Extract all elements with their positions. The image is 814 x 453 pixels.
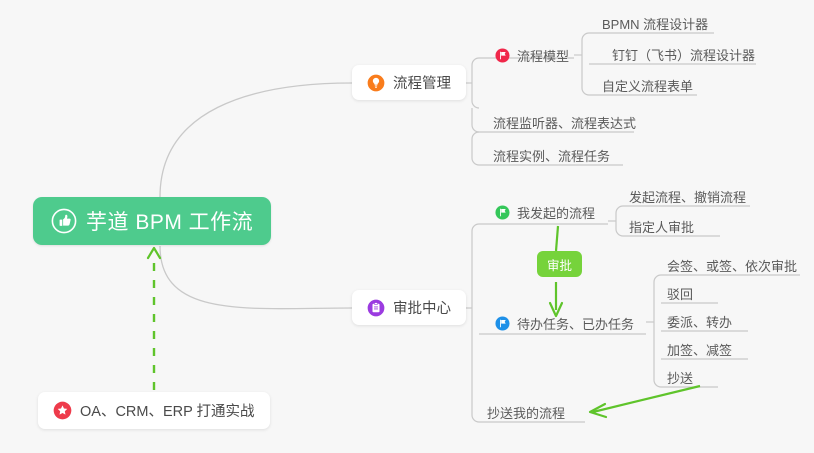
leaf-custom-process-form[interactable]: 自定义流程表单 [598, 72, 697, 98]
link-my-initiated-bracket [616, 206, 623, 236]
node-process-model[interactable]: 流程模型 [491, 42, 573, 68]
flag-icon [495, 48, 510, 63]
flag-icon [495, 316, 510, 331]
link-bracket-instance [472, 132, 479, 165]
label-todo-done-tasks: 待办任务、已办任务 [517, 314, 634, 333]
leaf-delegate-transfer[interactable]: 委派、转办 [663, 308, 736, 334]
annotation-tag-approval[interactable]: 审批 [537, 251, 582, 277]
link-approval-center-bracket [472, 224, 479, 422]
label-process-listener-expression: 流程监听器、流程表达式 [493, 113, 636, 132]
annotation-tag-approval-label: 审批 [547, 255, 572, 274]
leaf-process-instance-task[interactable]: 流程实例、流程任务 [489, 142, 614, 168]
arrow-cc-flow-head [590, 404, 606, 417]
label-my-initiated-process: 我发起的流程 [517, 203, 595, 222]
leaf-process-listener-expression[interactable]: 流程监听器、流程表达式 [489, 109, 640, 135]
branch-node-process-management[interactable]: 流程管理 [352, 65, 466, 100]
leaf-start-cancel-process[interactable]: 发起流程、撤销流程 [625, 183, 750, 209]
root-label: 芋道 BPM 工作流 [86, 206, 253, 236]
label-cc-to-me-process: 抄送我的流程 [487, 403, 565, 422]
leaf-countersign-or-sequential[interactable]: 会签、或签、依次审批 [663, 252, 801, 278]
label-start-cancel-process: 发起流程、撤销流程 [629, 187, 746, 206]
node-my-initiated-process[interactable]: 我发起的流程 [491, 199, 599, 225]
thumbs-up-icon [51, 208, 77, 234]
arrow-approval-flow-upper [556, 226, 558, 251]
mindmap-canvas: 芋道 BPM 工作流 OA、CRM、ERP 打通实战 流程管理 [0, 0, 814, 453]
label-add-remove-sign: 加签、减签 [667, 340, 732, 359]
bottom-note-label: OA、CRM、ERP 打通实战 [80, 400, 255, 421]
label-process-instance-task: 流程实例、流程任务 [493, 146, 610, 165]
branch-label-approval-center: 审批中心 [393, 297, 451, 318]
leaf-add-remove-sign[interactable]: 加签、减签 [663, 336, 736, 362]
arrow-practice-head [148, 248, 160, 258]
link-root-to-approval-center [160, 246, 352, 309]
leaf-assignee-approval[interactable]: 指定人审批 [625, 213, 698, 239]
link-process-management-bracket [472, 58, 479, 108]
label-countersign-or-sequential: 会签、或签、依次审批 [667, 256, 797, 275]
root-node[interactable]: 芋道 BPM 工作流 [33, 197, 271, 245]
label-reject: 驳回 [667, 284, 693, 303]
label-cc: 抄送 [667, 368, 693, 387]
link-todo-done-bracket [654, 275, 661, 387]
star-icon [53, 401, 72, 420]
leaf-bpmn-designer[interactable]: BPMN 流程设计器 [598, 10, 712, 36]
label-custom-process-form: 自定义流程表单 [602, 76, 693, 95]
leaf-cc[interactable]: 抄送 [663, 364, 697, 390]
label-assignee-approval: 指定人审批 [629, 217, 694, 236]
bottom-note-node[interactable]: OA、CRM、ERP 打通实战 [38, 392, 270, 429]
leaf-cc-to-me-process[interactable]: 抄送我的流程 [483, 399, 569, 425]
node-todo-done-tasks[interactable]: 待办任务、已办任务 [491, 310, 638, 336]
link-process-model-bracket [582, 33, 589, 95]
link-root-to-process-management [160, 83, 352, 197]
label-process-model: 流程模型 [517, 46, 569, 65]
label-delegate-transfer: 委派、转办 [667, 312, 732, 331]
leaf-reject[interactable]: 驳回 [663, 280, 697, 306]
branch-node-approval-center[interactable]: 审批中心 [352, 290, 466, 325]
label-dingtalk-feishu-designer: 钉钉（飞书）流程设计器 [612, 45, 755, 64]
link-bracket-listener [472, 108, 479, 132]
branch-label-process-management: 流程管理 [393, 72, 451, 93]
clipboard-icon [367, 299, 385, 317]
label-bpmn-designer: BPMN 流程设计器 [602, 14, 708, 33]
flag-icon [495, 205, 510, 220]
lightbulb-icon [367, 74, 385, 92]
leaf-dingtalk-feishu-designer[interactable]: 钉钉（飞书）流程设计器 [608, 41, 759, 67]
